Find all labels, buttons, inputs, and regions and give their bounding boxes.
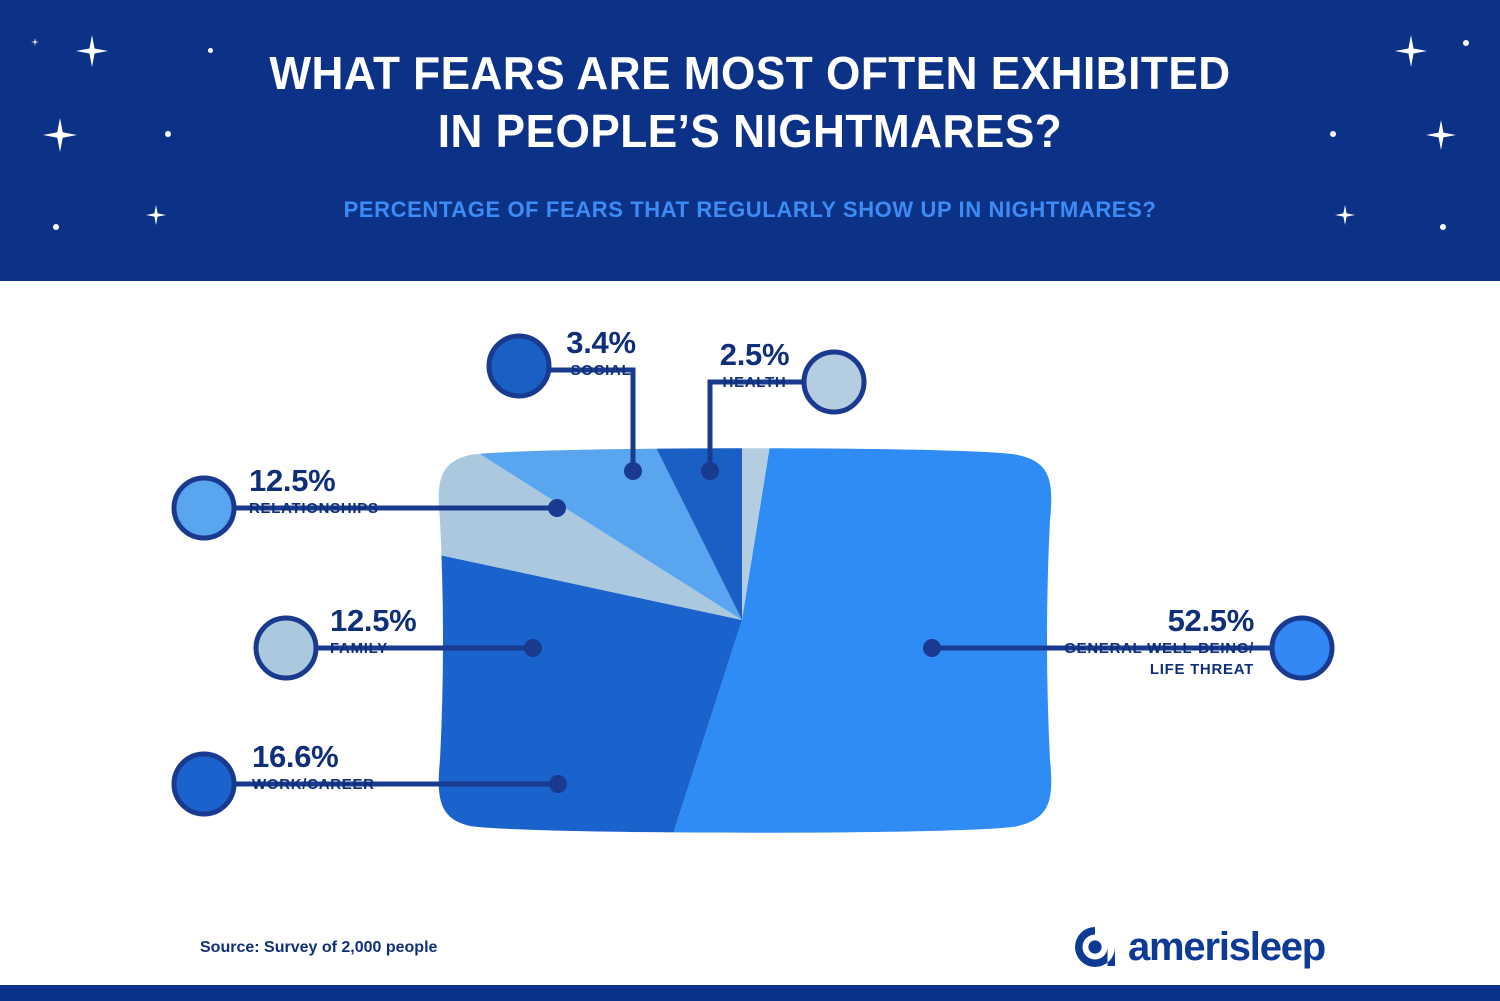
callout-general-label-line2: LIFE THREAT [900, 659, 1254, 680]
callout-general-value: 52.5% [900, 604, 1254, 638]
callout-health[interactable]: 2.5% HEALTH [672, 338, 837, 393]
callout-family-label: FAMILY [330, 638, 630, 659]
callout-relationships-label: RELATIONSHIPS [249, 498, 589, 519]
infographic-root: WHAT FEARS ARE MOST OFTEN EXHIBITED IN P… [0, 0, 1500, 1001]
header-banner: WHAT FEARS ARE MOST OFTEN EXHIBITED IN P… [0, 0, 1500, 281]
source-note: Source: Survey of 2,000 people [200, 939, 437, 957]
callout-social-value: 3.4% [516, 326, 686, 360]
footer-accent-bar [0, 985, 1500, 1001]
title-line-2: IN PEOPLE’S NIGHTMARES? [30, 102, 1470, 160]
callout-social-label: SOCIAL [516, 360, 686, 381]
callout-relationships-value: 12.5% [249, 464, 589, 498]
amerisleep-mark-icon [1073, 925, 1117, 969]
callout-work-career[interactable]: 16.6% WORK/CAREER [252, 740, 592, 795]
callout-health-value: 2.5% [672, 338, 837, 372]
callout-general-well-being[interactable]: 52.5% GENERAL WELL-BEING/ LIFE THREAT [900, 604, 1254, 680]
star-dot-icon [1440, 224, 1446, 230]
callout-health-label: HEALTH [672, 372, 837, 393]
amerisleep-wordmark: amerisleep [1128, 927, 1325, 967]
callout-general-label-line1: GENERAL WELL-BEING/ [900, 638, 1254, 659]
callout-family[interactable]: 12.5% FAMILY [330, 604, 630, 659]
callout-work-label: WORK/CAREER [252, 774, 592, 795]
callout-social[interactable]: 3.4% SOCIAL [516, 326, 686, 381]
star-dot-icon [53, 224, 59, 230]
callout-family-value: 12.5% [330, 604, 630, 638]
callout-work-value: 16.6% [252, 740, 592, 774]
amerisleep-logo[interactable]: amerisleep [1073, 925, 1325, 969]
page-title: WHAT FEARS ARE MOST OFTEN EXHIBITED IN P… [0, 44, 1500, 160]
title-line-1: WHAT FEARS ARE MOST OFTEN EXHIBITED [30, 44, 1470, 102]
page-subtitle: PERCENTAGE OF FEARS THAT REGULARLY SHOW … [0, 197, 1500, 223]
callout-relationships[interactable]: 12.5% RELATIONSHIPS [249, 464, 589, 519]
